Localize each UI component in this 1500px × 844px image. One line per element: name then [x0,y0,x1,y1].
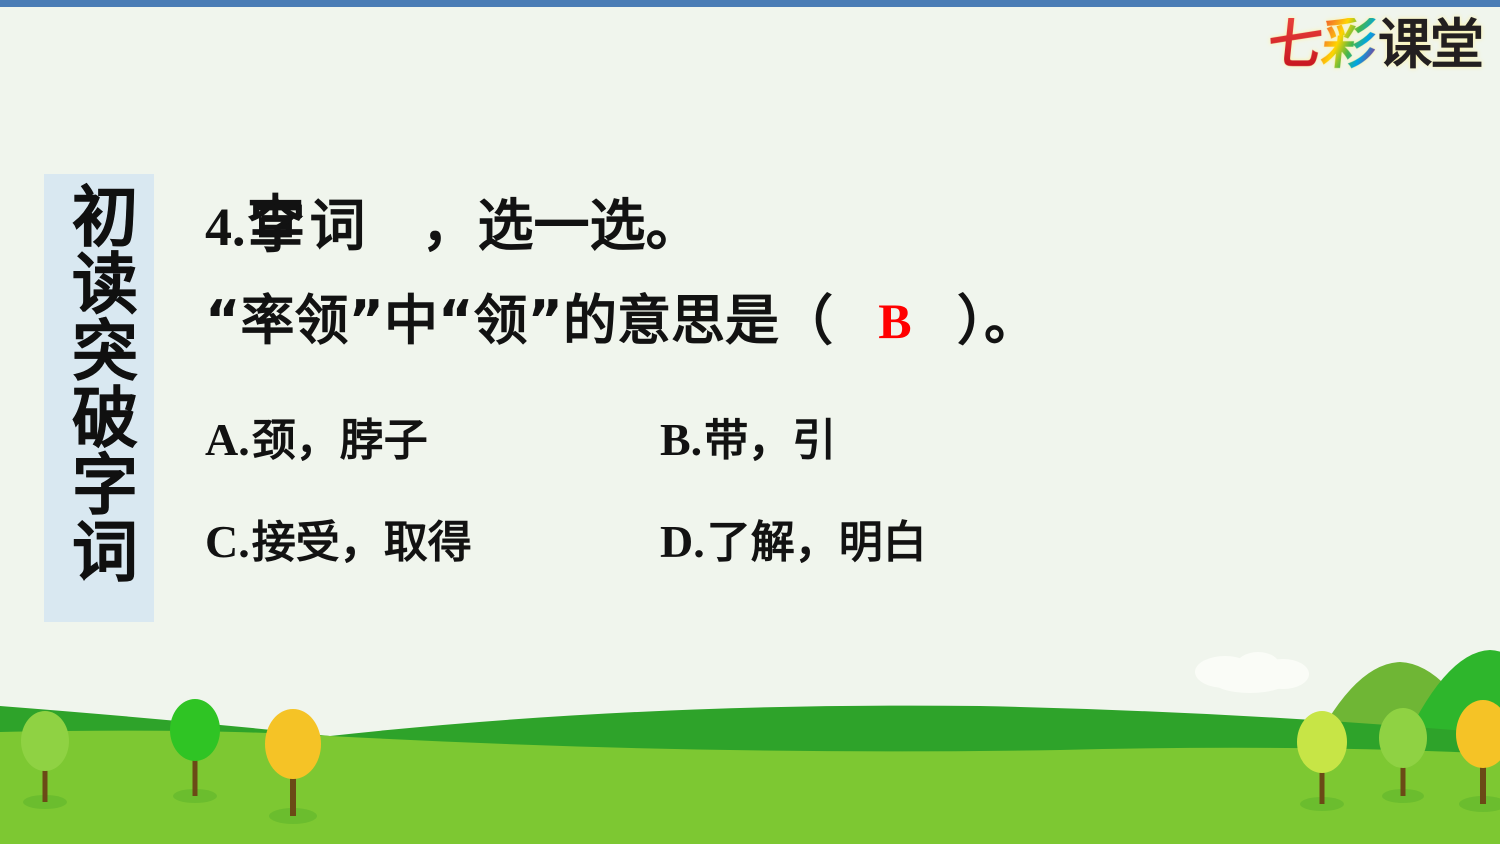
options-list: A. 颈，脖子 B. 带，引 C. 接受，取得 D. 了解，明白 [205,404,1445,570]
top-accent-bar [0,0,1500,7]
question-number: 4. [205,199,246,256]
option-a-key: A. [205,413,250,466]
answer-value: B [833,296,957,346]
option-a[interactable]: A. 颈，脖子 [205,404,660,468]
options-row-ab: A. 颈，脖子 B. 带，引 [205,404,1445,468]
logo-char-qi: 七 [1265,18,1325,72]
brand-logo: 七 彩 课堂 [1268,18,1482,72]
option-d-text: 了解，明白 [707,506,927,570]
option-b-key: B. [660,413,702,466]
cloud-icon [1195,652,1309,693]
logo-char-ketang: 课堂 [1378,18,1482,72]
question-stem-end: ）。 [957,294,1038,348]
glyph-front: 字 [250,198,306,260]
section-tab: 初读突破字词 [44,174,154,622]
options-row-cd: C. 接受，取得 D. 了解，明白 [205,506,1445,570]
question-content: 4. 查 字 词 ，选一选。 “率领”中“领”的意思是（ B ）。 A. 颈，脖… [205,190,1445,608]
question-stem: “率领”中“领”的意思是（ [205,294,833,348]
option-a-text: 颈，脖子 [252,404,428,468]
option-c[interactable]: C. 接受，取得 [205,506,660,570]
logo-char-cai: 彩 [1319,18,1381,72]
section-tab-label: 初读突破字词 [64,182,134,584]
option-d[interactable]: D. 了解，明白 [660,506,927,570]
option-c-key: C. [205,515,250,568]
option-c-text: 接受，取得 [252,506,472,570]
overlapping-glyph-pair: 查 字 [248,196,310,258]
question-prompt-line: 4. 查 字 词 ，选一选。 [205,190,1445,264]
slide-root: { "theme": { "background": "#f0f5ed", "t… [0,0,1500,844]
option-b[interactable]: B. 带，引 [660,404,836,468]
option-b-text: 带，引 [704,404,836,468]
question-prompt-tail: 词 ，选一选。 [310,198,702,257]
question-stem-line: “率领”中“领”的意思是（ B ）。 [205,294,1445,348]
option-d-key: D. [660,515,705,568]
decorative-landscape [0,644,1500,844]
